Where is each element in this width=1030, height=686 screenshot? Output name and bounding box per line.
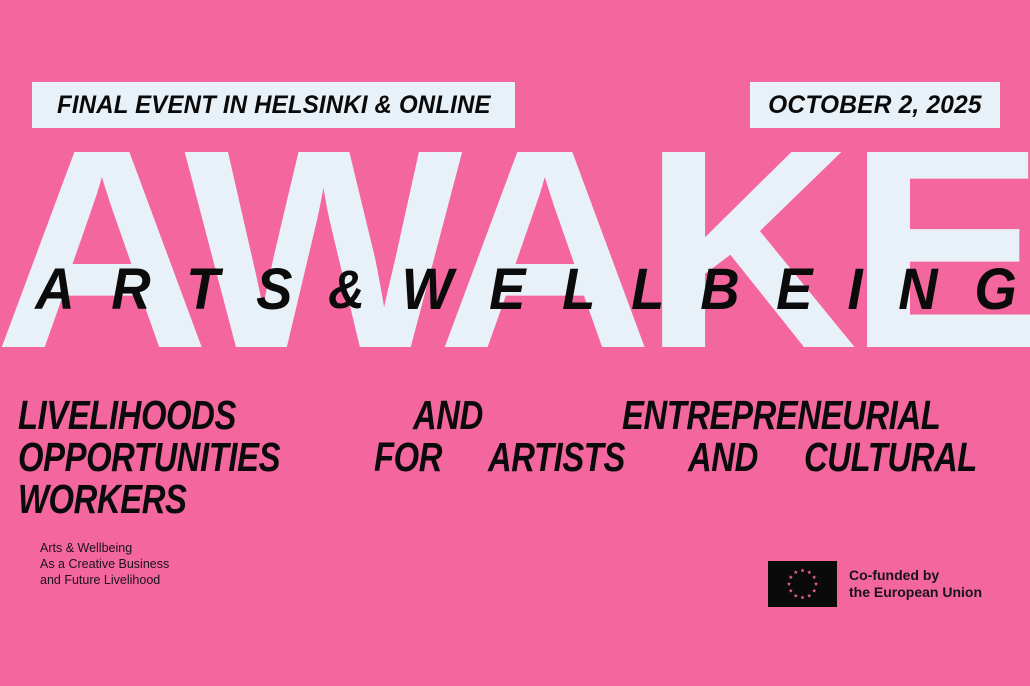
- subtitle-word: ARTISTS: [488, 436, 625, 478]
- event-date-badge: OCTOBER 2, 2025: [750, 82, 1000, 128]
- event-location-badge-label: FINAL EVENT IN HELSINKI & ONLINE: [57, 91, 491, 120]
- poster-canvas: FINAL EVENT IN HELSINKI & ONLINE OCTOBER…: [0, 0, 1030, 686]
- subtitle-word: AND: [688, 436, 758, 478]
- subtitle-word: AND: [413, 394, 483, 436]
- eu-funding-logo: Co-funded by the European Union: [768, 561, 982, 607]
- eu-flag-icon: [768, 561, 837, 607]
- eu-funding-text: Co-funded by the European Union: [849, 567, 982, 601]
- subtitle-word: ENTREPRENEURIAL: [622, 394, 940, 436]
- wordmark-awake: AWAKE: [0, 152, 1030, 392]
- subtitle-line: WORKERS: [18, 478, 1020, 520]
- subtitle-line: OPPORTUNITIES FOR ARTISTS AND CULTURAL: [18, 436, 1020, 478]
- subtitle-word: FOR: [374, 436, 442, 478]
- event-date-badge-label: OCTOBER 2, 2025: [768, 91, 982, 120]
- subtitle-word: CULTURAL: [804, 436, 977, 478]
- project-credit-line-1: Arts & Wellbeing: [40, 540, 169, 556]
- eu-funding-line-1: Co-funded by: [849, 567, 982, 584]
- event-location-badge: FINAL EVENT IN HELSINKI & ONLINE: [32, 82, 515, 128]
- subtitle-block: LIVELIHOODS AND ENTREPRENEURIAL OPPORTUN…: [18, 394, 1020, 520]
- subtitle-word: LIVELIHOODS: [18, 394, 236, 436]
- wordmark-backdrop-clip: AWAKE: [0, 152, 1030, 402]
- eu-funding-line-2: the European Union: [849, 584, 982, 601]
- subtitle-line: LIVELIHOODS AND ENTREPRENEURIAL: [18, 394, 1020, 436]
- project-credit: Arts & Wellbeing As a Creative Business …: [40, 540, 169, 588]
- project-credit-line-3: and Future Livelihood: [40, 572, 169, 588]
- subtitle-word: WORKERS: [18, 478, 186, 520]
- subtitle-word: OPPORTUNITIES: [18, 436, 280, 478]
- project-credit-line-2: As a Creative Business: [40, 556, 169, 572]
